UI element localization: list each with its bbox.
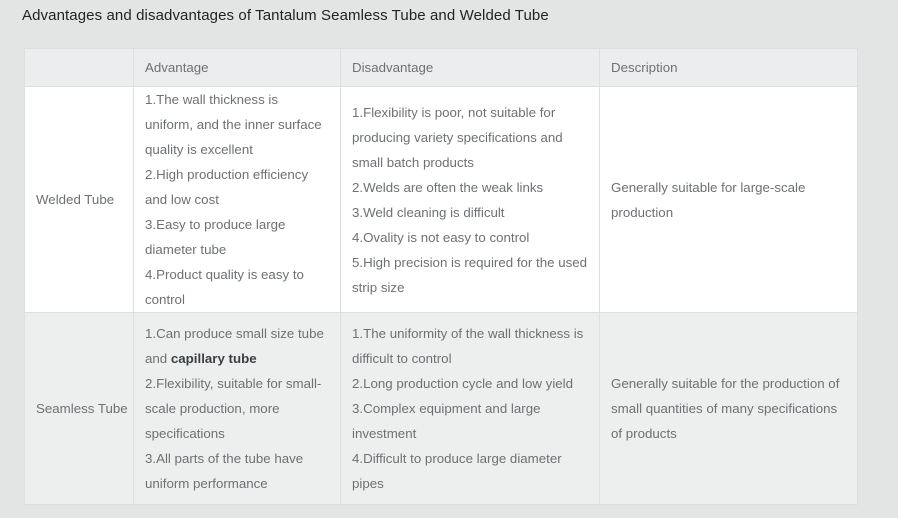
cell-line: 2.Flexibility, suitable for small-scale …	[145, 371, 329, 446]
cell-line: 1.Flexibility is poor, not suitable for …	[352, 100, 588, 175]
cell-line: 3.Weld cleaning is difficult	[352, 200, 588, 225]
row-label-seamless-tube: Seamless Tube	[25, 313, 134, 505]
column-header-advantage: Advantage	[134, 49, 341, 87]
cell-line: 1.The uniformity of the wall thickness i…	[352, 321, 588, 371]
cell-welded-tube-advantage: 1.The wall thickness is uniform, and the…	[134, 87, 341, 313]
cell-line: 2.Welds are often the weak links	[352, 175, 588, 200]
table-header: Advantage Disadvantage Description	[25, 49, 858, 87]
comparison-table: Advantage Disadvantage Description Welde…	[24, 48, 858, 505]
table-row: Welded Tube 1.The wall thickness is unif…	[25, 87, 858, 313]
table-body: Welded Tube 1.The wall thickness is unif…	[25, 87, 858, 505]
table-row: Seamless Tube 1.Can produce small size t…	[25, 313, 858, 505]
cell-welded-tube-disadvantage: 1.Flexibility is poor, not suitable for …	[341, 87, 600, 313]
cell-seamless-tube-description: Generally suitable for the production of…	[600, 313, 858, 505]
comparison-table-container: Advantage Disadvantage Description Welde…	[24, 48, 858, 508]
cell-line: 3.Complex equipment and large investment	[352, 396, 588, 446]
cell-line: 4.Product quality is easy to control	[145, 262, 329, 312]
cell-line: 4.Ovality is not easy to control	[352, 225, 588, 250]
cell-line: 3.All parts of the tube have uniform per…	[145, 446, 329, 496]
column-header-blank	[25, 49, 134, 87]
page-root: Advantages and disadvantages of Tantalum…	[0, 0, 898, 518]
cell-welded-tube-description: Generally suitable for large-scale produ…	[600, 87, 858, 313]
emphasized-term: capillary tube	[171, 351, 257, 366]
cell-line: 3.Easy to produce large diameter tube	[145, 212, 329, 262]
cell-seamless-tube-advantage: 1.Can produce small size tube and capill…	[134, 313, 341, 505]
table-header-row: Advantage Disadvantage Description	[25, 49, 858, 87]
cell-line: 1.The wall thickness is uniform, and the…	[145, 87, 329, 162]
cell-line: 2.Long production cycle and low yield	[352, 371, 588, 396]
cell-seamless-tube-disadvantage: 1.The uniformity of the wall thickness i…	[341, 313, 600, 505]
column-header-description: Description	[600, 49, 858, 87]
row-label-welded-tube: Welded Tube	[25, 87, 134, 313]
cell-line: 4.Difficult to produce large diameter pi…	[352, 446, 588, 496]
cell-line: 1.Can produce small size tube and capill…	[145, 321, 329, 371]
cell-line: 2.High production efficiency and low cos…	[145, 162, 329, 212]
cell-line: 5.High precision is required for the use…	[352, 250, 588, 300]
page-title: Advantages and disadvantages of Tantalum…	[22, 7, 549, 24]
column-header-disadvantage: Disadvantage	[341, 49, 600, 87]
